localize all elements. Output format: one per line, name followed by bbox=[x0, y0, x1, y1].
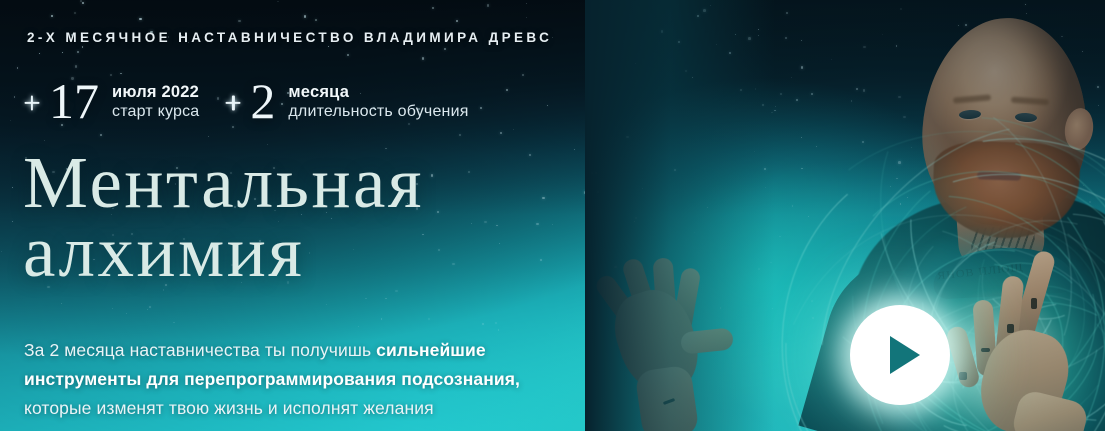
fact-secondary: длительность обучения bbox=[288, 103, 468, 120]
fact-primary: июля 2022 bbox=[112, 83, 199, 101]
fact-text: месяца длительность обучения bbox=[288, 80, 468, 122]
banner-content: 2-Х МЕСЯЧНОЕ НАСТАВНИЧЕСТВО ВЛАДИМИРА ДР… bbox=[0, 0, 640, 431]
fact-text: июля 2022 старт курса bbox=[112, 80, 199, 122]
play-icon bbox=[890, 336, 920, 374]
hand-right-tattoo-4 bbox=[959, 372, 967, 380]
play-video-button[interactable] bbox=[850, 305, 950, 405]
fact-primary: месяца bbox=[288, 83, 349, 101]
description-part-2: которые изменят твою жизнь и исполнят же… bbox=[24, 398, 434, 418]
fact-duration: 2 месяца длительность обучения bbox=[225, 76, 468, 126]
fact-number: 2 bbox=[250, 76, 275, 126]
hand-right-tattoo-3 bbox=[981, 348, 990, 352]
fact-number: 17 bbox=[49, 76, 99, 126]
fact-secondary: старт курса bbox=[112, 103, 199, 120]
description-part-1: За 2 месяца наставничества ты получишь bbox=[24, 340, 376, 360]
hand-right-tattoo-2 bbox=[1007, 324, 1014, 333]
hand-right-tattoo-1 bbox=[1031, 298, 1037, 309]
sparkle-icon bbox=[24, 95, 40, 111]
fact-start-date: 17 июля 2022 старт курса bbox=[24, 76, 199, 126]
promo-banner: ЯНОВ ПЛЮЩ 2-Х МЕСЯЧНОЕ НАСТАВНИЧЕСТВО ВЛ… bbox=[0, 0, 1105, 431]
page-title: Ментальная алхимия bbox=[23, 148, 424, 286]
mentor-portrait-artwork: ЯНОВ ПЛЮЩ bbox=[585, 0, 1105, 431]
banner-description: За 2 месяца наставничества ты получишь с… bbox=[24, 336, 564, 423]
course-facts: 17 июля 2022 старт курса 2 месяца длител… bbox=[24, 76, 469, 126]
hand-left-wrist bbox=[634, 364, 699, 431]
hand-left-thumb bbox=[680, 327, 734, 354]
sparkle-icon bbox=[225, 95, 241, 111]
banner-eyebrow: 2-Х МЕСЯЧНОЕ НАСТАВНИЧЕСТВО ВЛАДИМИРА ДР… bbox=[27, 30, 552, 45]
